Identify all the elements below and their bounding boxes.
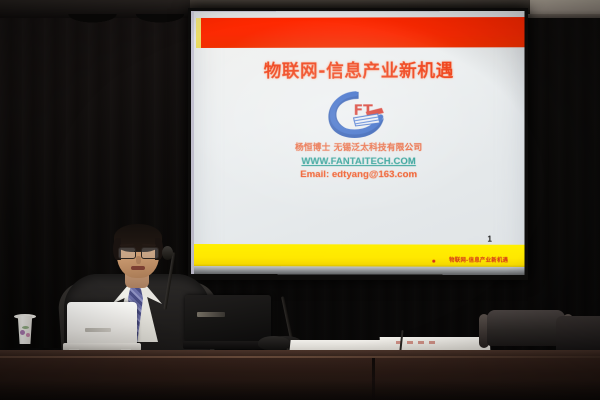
glasses-lens-left xyxy=(118,247,136,259)
slide-top-banner-edge xyxy=(196,18,201,48)
laptop-white-brand-logo xyxy=(85,328,111,332)
slide-company-line: 杨恒博士 无锡泛太科技有限公司 xyxy=(194,143,524,154)
slide-top-banner xyxy=(200,17,524,48)
presentation-photo: 物联网-信息产业新机遇 FT 杨恒博士 无锡泛太科技有限公司 WWW.FANTA… xyxy=(0,0,600,400)
microphone-head xyxy=(162,246,173,260)
office-chair-far xyxy=(556,316,600,350)
glasses-lens-right xyxy=(141,247,159,259)
cup-floral-flower-a xyxy=(20,330,25,335)
paper-sheet-b xyxy=(380,337,491,351)
laptop-white-lid xyxy=(67,302,137,344)
cup-floral-flower-b xyxy=(26,333,30,337)
slide-email-line: Email: edtyang@163.com xyxy=(194,169,524,181)
chair-backrest xyxy=(487,310,565,346)
screen-bottom-shadow xyxy=(194,264,524,275)
laptop-dark-brand-logo xyxy=(197,312,225,317)
slide-url-link[interactable]: WWW.FANTAITECH.COM xyxy=(194,155,524,167)
slide-footer-text: 物联网-信息产业新机遇 xyxy=(449,256,508,264)
nose xyxy=(136,256,141,264)
projected-slide: 物联网-信息产业新机遇 FT 杨恒博士 无锡泛太科技有限公司 WWW.FANTA… xyxy=(194,11,524,275)
cup-floral-leaf xyxy=(22,326,29,329)
laptop-dark-lid xyxy=(185,295,271,343)
slide-logo-wrap: FT xyxy=(194,90,524,140)
fantai-tech-logo: FT xyxy=(325,90,391,140)
slide-footer-bullet-icon xyxy=(432,259,435,262)
curtain-scallop xyxy=(55,14,205,32)
slide-title: 物联网-信息产业新机遇 xyxy=(194,57,524,83)
slide-page-number: 1 xyxy=(487,235,492,244)
table-bottom-shadow xyxy=(0,380,600,400)
computer-mouse xyxy=(258,336,290,350)
slide-contact-lines: 杨恒博士 无锡泛太科技有限公司 WWW.FANTAITECH.COM Email… xyxy=(194,143,524,181)
mouth xyxy=(131,266,145,270)
laptop-white xyxy=(63,302,141,350)
